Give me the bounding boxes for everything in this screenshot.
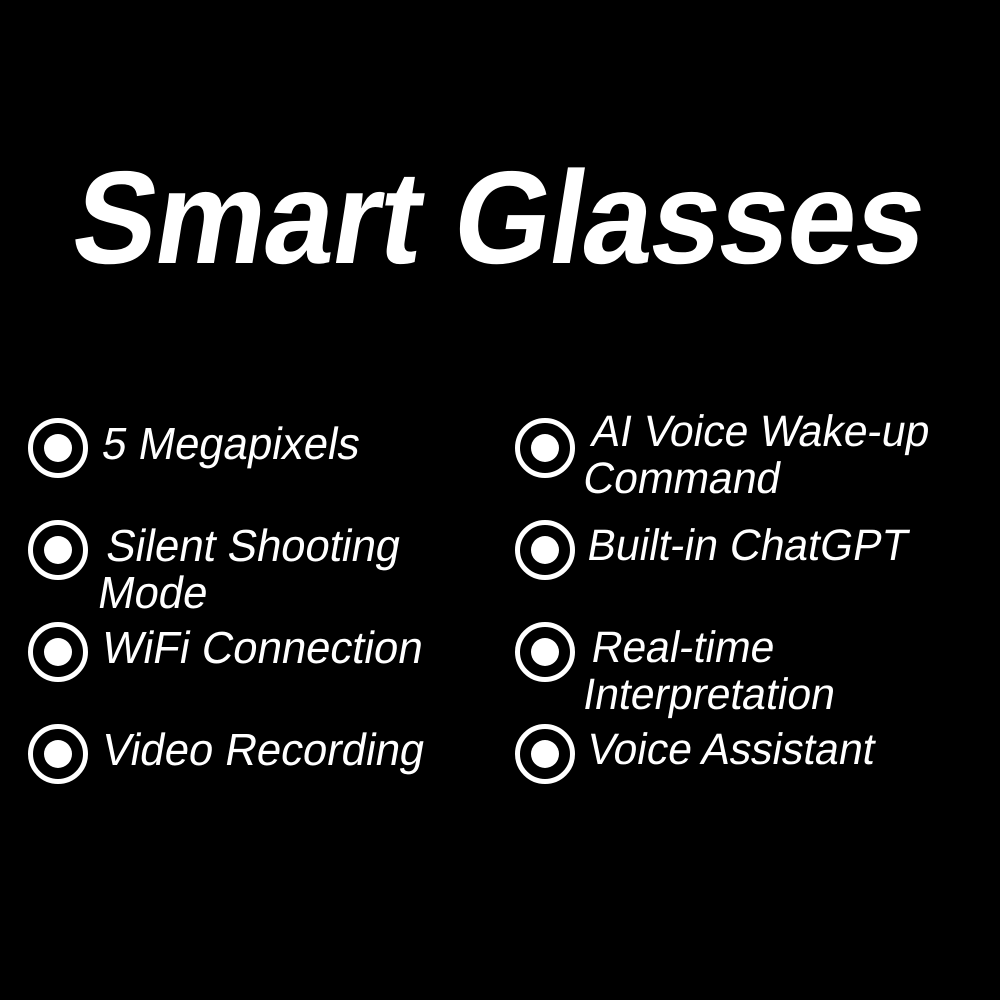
feature-label: Voice Assistant [584,726,879,773]
feature-label: AI Voice Wake-up Command [580,408,934,502]
filled-radio-icon [515,418,575,478]
feature-label: Silent Shooting Mode [95,522,497,616]
feature-label: WiFi Connection [99,624,428,671]
feature-list: 5 Megapixels Silent Shooting Mode WiFi C… [0,400,1000,808]
feature-item-wifi: WiFi Connection [28,604,500,706]
feature-column-right: AI Voice Wake-up Command Built-in ChatGP… [500,400,1000,808]
feature-column-left: 5 Megapixels Silent Shooting Mode WiFi C… [0,400,500,808]
feature-item-video-recording: Video Recording [28,706,500,808]
feature-label: Built-in ChatGPT [584,522,912,569]
filled-radio-icon [28,418,88,478]
filled-radio-icon [515,622,575,682]
feature-label: Video Recording [99,726,429,773]
filled-radio-icon [28,622,88,682]
feature-item-silent-shooting: Silent Shooting Mode [28,502,500,604]
filled-radio-icon [28,724,88,784]
feature-label: 5 Megapixels [99,420,364,467]
feature-item-voice-assistant: Voice Assistant [515,706,1000,808]
filled-radio-icon [515,520,575,580]
filled-radio-icon [515,724,575,784]
feature-item-ai-voice-wakeup: AI Voice Wake-up Command [515,400,1000,502]
filled-radio-icon [28,520,88,580]
feature-label: Real-time Interpretation [580,624,996,718]
page-title-container: Smart Glasses [0,152,1000,284]
feature-item-chatgpt: Built-in ChatGPT [515,502,1000,604]
feature-item-megapixels: 5 Megapixels [28,400,500,502]
page-title: Smart Glasses [65,152,936,284]
feature-item-realtime-interpretation: Real-time Interpretation [515,604,1000,706]
product-feature-poster: Smart Glasses 5 Megapixels Silent Shooti… [0,0,1000,1000]
